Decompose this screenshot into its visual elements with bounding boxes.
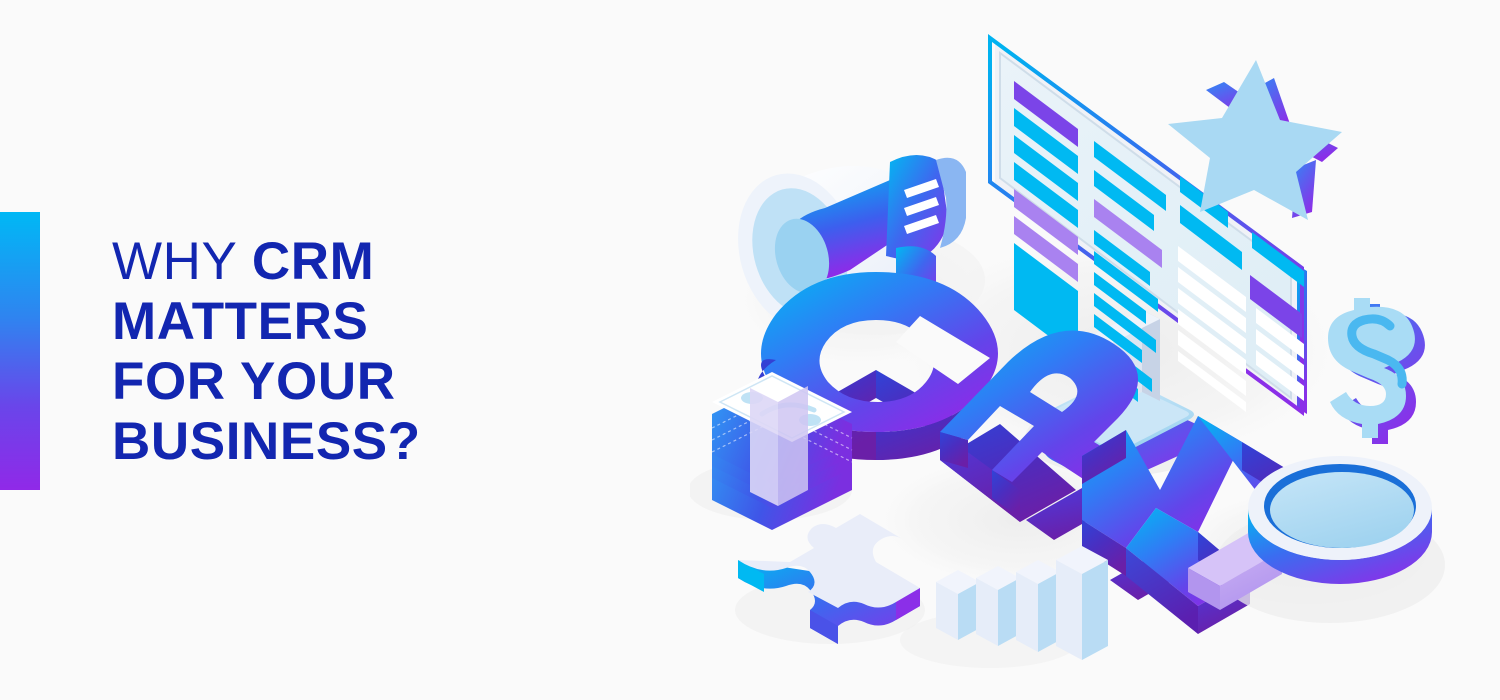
headline-line-1: WHY CRM: [112, 232, 632, 292]
crm-isometric-illustration: [690, 20, 1490, 680]
page-title: WHY CRM MATTERS FOR YOUR BUSINESS?: [112, 232, 632, 472]
headline-line-4: BUSINESS?: [112, 412, 632, 472]
bar-1: [936, 570, 980, 640]
bar-4: [1056, 546, 1108, 660]
banner-root: WHY CRM MATTERS FOR YOUR BUSINESS?: [0, 0, 1500, 700]
headline-line-1-bold: CRM: [252, 232, 375, 291]
bar-2: [976, 566, 1020, 646]
dashboard-sidebar: [1014, 81, 1078, 358]
headline-line-2: MATTERS: [112, 292, 632, 352]
headline-line-3: FOR YOUR: [112, 352, 632, 412]
headline-line-1-normal: WHY: [112, 232, 252, 291]
accent-bar: [0, 212, 40, 490]
bar-3: [1016, 560, 1060, 652]
